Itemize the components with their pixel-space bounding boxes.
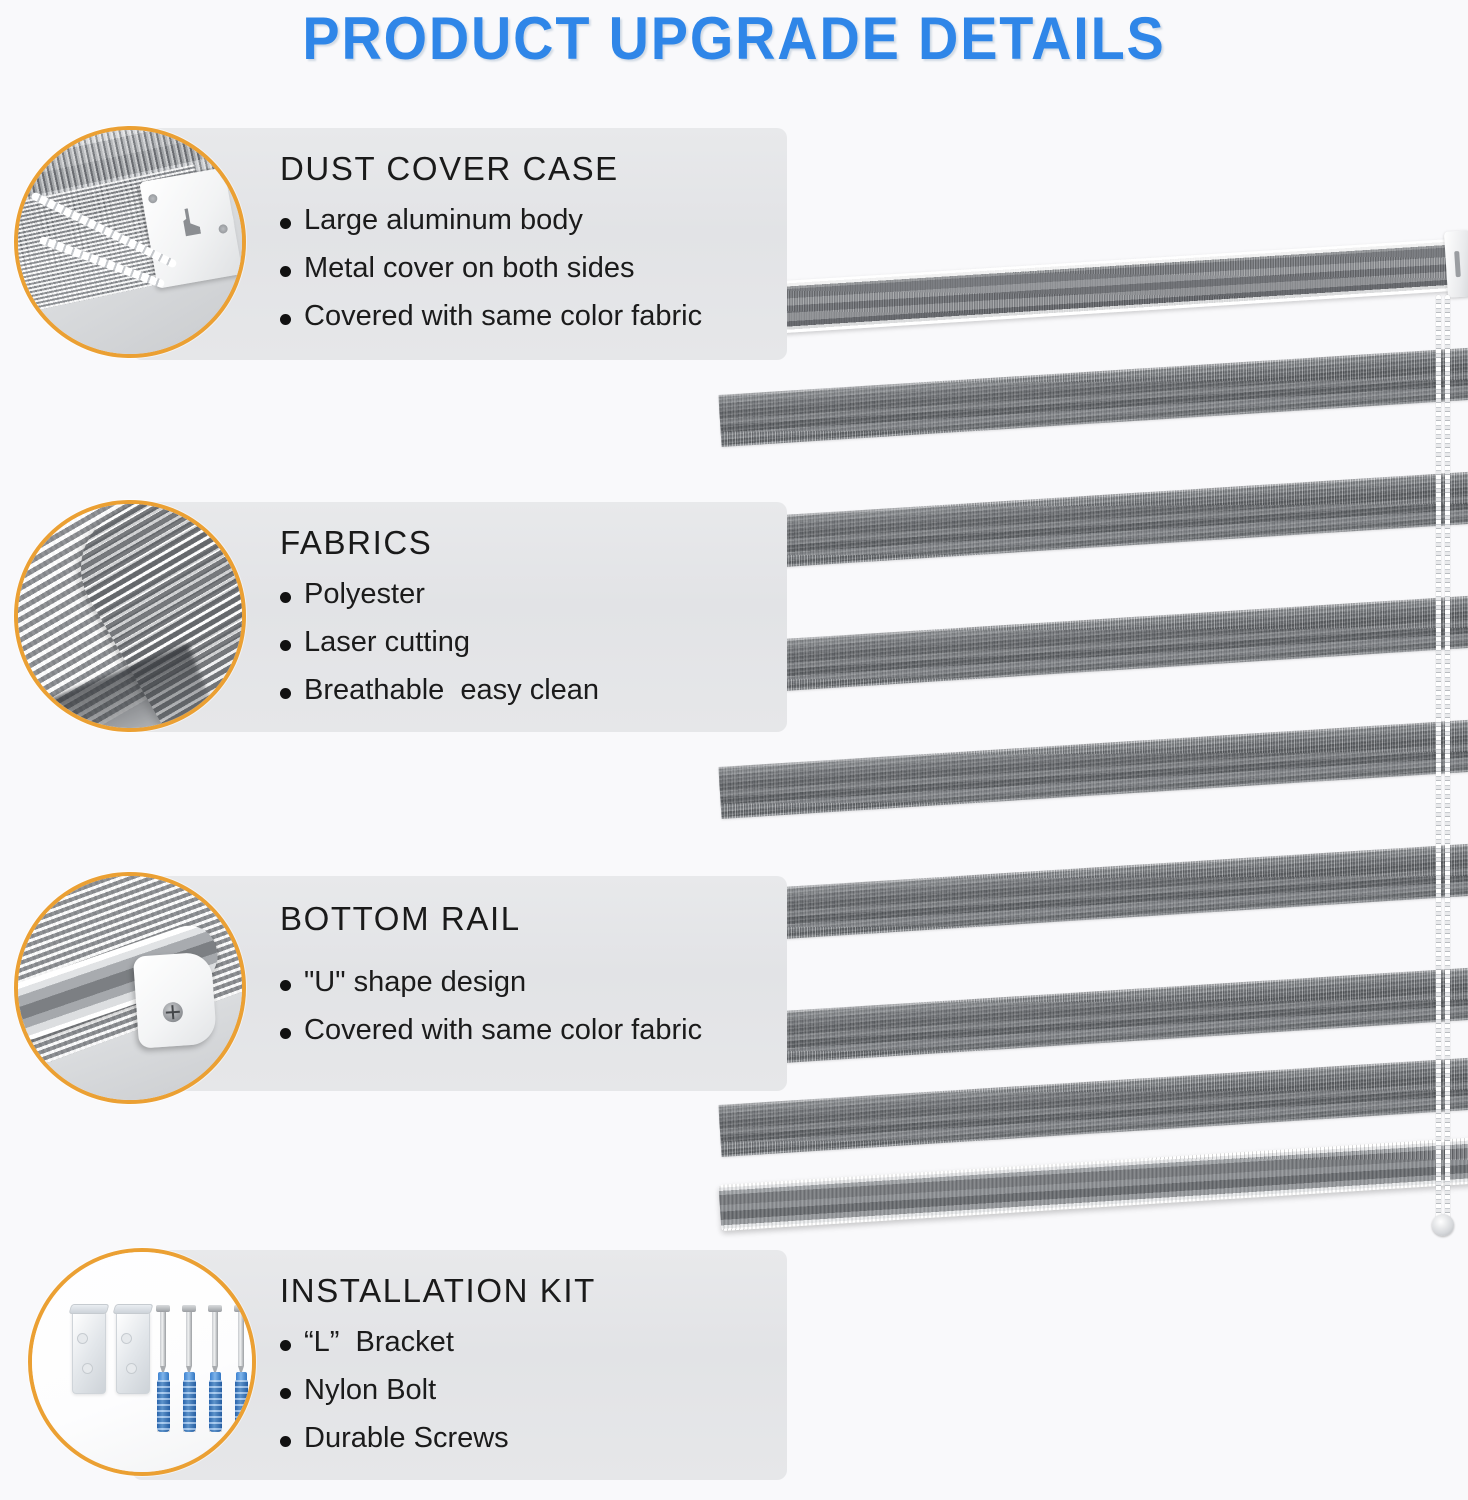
dust-cover-case-photo [14,126,246,358]
fabric-slat [718,843,1468,943]
bracket-slot-icon [175,207,203,244]
screw-icon [162,1002,183,1023]
product-image-zebra-blind [700,225,1468,1285]
anchor-neck [158,1372,169,1382]
fabric-roll-photo [14,500,246,732]
nylon-bolt-icon [183,1380,196,1432]
bullet-item: Covered with same color fabric [280,1016,702,1045]
bullet-item: Laser cutting [280,628,599,657]
feature-bullets: Polyester Laser cutting Breathable easy … [280,580,599,705]
page-title: PRODUCT UPGRADE DETAILS [51,4,1416,73]
feature-title: INSTALLATION KIT [280,1272,596,1310]
blind-assembly [700,225,1468,1285]
bullet-text: Breathable easy clean [304,676,599,705]
feature-bullets: Large aluminum body Metal cover on both … [280,206,702,331]
fabric-slat [718,595,1468,695]
l-bracket-icon [116,1310,150,1394]
bead-chain[interactable] [1436,295,1450,1230]
nylon-bolt-icon [157,1380,170,1432]
bullet-dot-icon [280,980,291,991]
screw-icon [218,224,228,234]
feature-bullets: "U" shape design Covered with same color… [280,968,702,1045]
screw-icon [148,193,158,203]
screw-head [156,1305,170,1312]
l-bracket-icon [72,1310,106,1394]
bullet-item: Polyester [280,580,599,609]
bullet-dot-icon [280,314,291,325]
bullet-dot-icon [280,266,291,277]
metal-end-cover [139,167,242,288]
fabric-slat [718,347,1468,447]
bullet-dot-icon [280,218,291,229]
bullet-text: Metal cover on both sides [304,254,634,283]
bullet-text: Durable Screws [304,1424,509,1453]
feature-title: FABRICS [280,524,432,562]
chain-strand [1436,295,1441,1230]
bracket-lip [113,1304,154,1314]
bullet-item: Large aluminum body [280,206,702,235]
fabric-slat [718,967,1468,1067]
bullet-item: Nylon Bolt [280,1376,509,1405]
anchor-neck [236,1372,247,1382]
screw-icon [212,1310,218,1366]
bullet-item: Covered with same color fabric [280,302,702,331]
bullet-dot-icon [280,1340,291,1351]
bullet-item: Metal cover on both sides [280,254,702,283]
headrail-endcap-icon [1444,230,1468,298]
bullet-dot-icon [280,1388,291,1399]
headrail [718,238,1468,337]
anchor-neck [210,1372,221,1382]
bullet-item: "U" shape design [280,968,702,997]
screw-icon [160,1310,166,1366]
bottom-rail [719,1137,1468,1231]
fabric-slat [718,719,1468,819]
feature-title: BOTTOM RAIL [280,900,521,938]
chain-strand [1445,295,1450,1230]
bullet-text: Covered with same color fabric [304,1016,702,1045]
feature-bullets: “L” Bracket Nylon Bolt Durable Screws [280,1328,509,1453]
bracket-lip [69,1304,110,1314]
bottom-rail-photo [14,872,246,1104]
fabric-slat [718,1057,1468,1157]
feature-title: DUST COVER CASE [280,150,619,188]
bullet-text: Large aluminum body [304,206,583,235]
screw-head [234,1305,248,1312]
bullet-text: Nylon Bolt [304,1376,436,1405]
bullet-dot-icon [280,640,291,651]
endcap-slot-icon [1454,251,1461,277]
bullet-dot-icon [280,1436,291,1447]
anchor-neck [184,1372,195,1382]
bullet-dot-icon [280,688,291,699]
bullet-dot-icon [280,592,291,603]
screw-head [208,1305,222,1312]
nylon-bolt-icon [235,1380,248,1432]
installation-kit-photo [28,1248,256,1476]
bullet-item: “L” Bracket [280,1328,509,1357]
screw-icon [238,1310,244,1366]
bullet-text: Laser cutting [304,628,470,657]
screw-icon [186,1310,192,1366]
bullet-dot-icon [280,1028,291,1039]
bullet-item: Breathable easy clean [280,676,599,705]
bullet-text: "U" shape design [304,968,526,997]
nylon-bolt-icon [209,1380,222,1432]
screw-head [182,1305,196,1312]
rail-end-cap [133,951,217,1048]
bullet-text: “L” Bracket [304,1328,454,1357]
bullet-text: Covered with same color fabric [304,302,702,331]
bullet-text: Polyester [304,580,425,609]
chain-tensioner-icon[interactable] [1432,1214,1454,1236]
bullet-item: Durable Screws [280,1424,509,1453]
fabric-slat [718,471,1468,571]
